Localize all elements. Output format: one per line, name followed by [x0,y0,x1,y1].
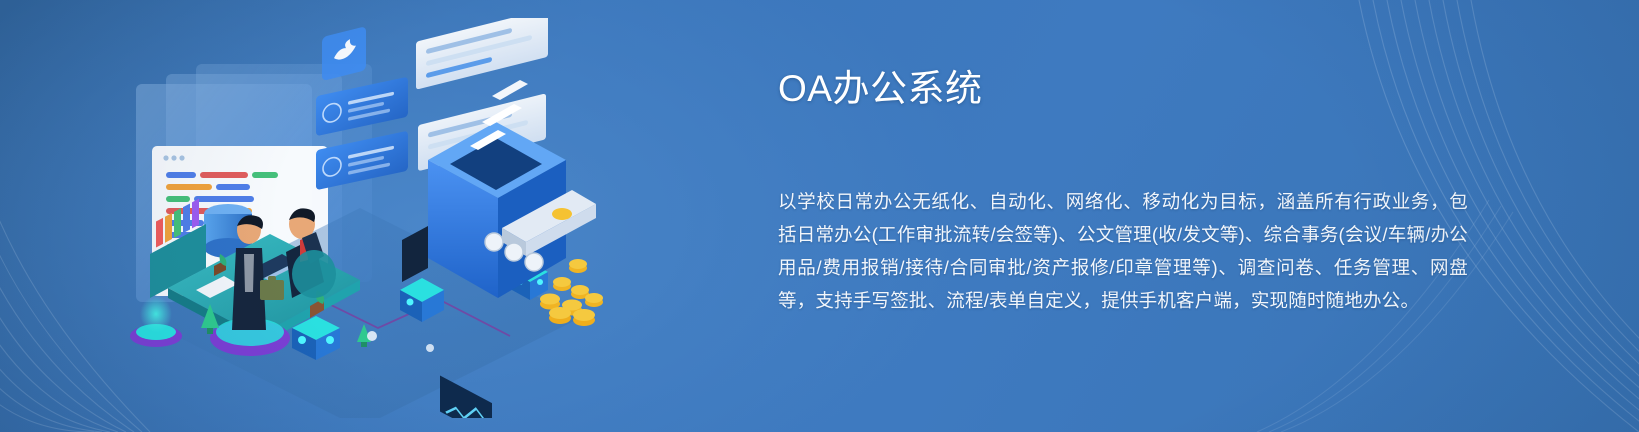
floating-sphere [426,344,434,352]
page-title: OA办公系统 [778,66,1478,113]
isometric-office-illustration [110,18,670,418]
banner-copy: OA办公系统 以学校日常办公无纸化、自动化、网络化、移动化为目标，涵盖所有行政业… [778,66,1478,317]
oa-system-banner: OA办公系统 以学校日常办公无纸化、自动化、网络化、移动化为目标，涵盖所有行政业… [0,0,1639,432]
page-description: 以学校日常办公无纸化、自动化、网络化、移动化为目标，涵盖所有行政业务，包括日常办… [778,185,1468,317]
floating-sphere [367,331,377,341]
